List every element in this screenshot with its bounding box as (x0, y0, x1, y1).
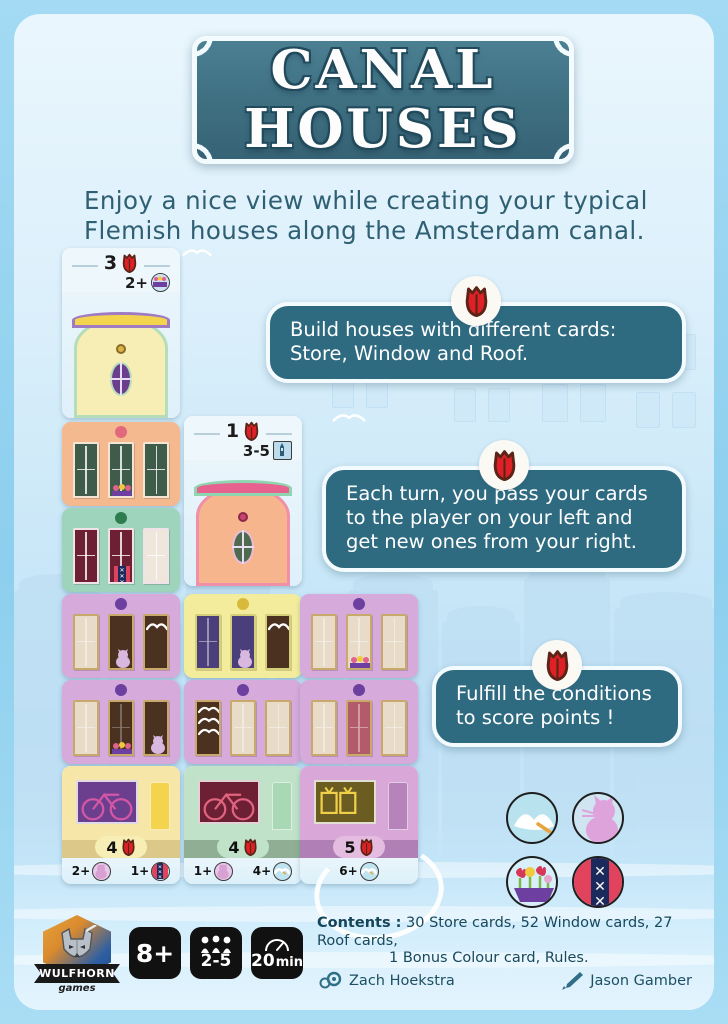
flowerbox-icon (349, 654, 371, 670)
window-card-medallion (115, 598, 127, 610)
playtime-value: 20 (251, 953, 275, 971)
store-points-value: 4 (228, 838, 239, 857)
window-card[interactable] (62, 594, 180, 678)
window: ✕✕✕ (108, 528, 134, 584)
tulip-icon (243, 421, 260, 441)
speech-bubble-score: Fulfill the conditions to score points ! (432, 666, 682, 747)
publisher-logo: WULFHORN games (34, 913, 120, 993)
cat-icon (235, 648, 255, 668)
bonus-icon-cluster: ✕✕✕ (506, 792, 666, 920)
amsterdam-flag-icon: ✕✕✕ (151, 862, 170, 881)
window (143, 528, 169, 584)
window (346, 700, 372, 756)
window (73, 700, 99, 756)
window (195, 700, 221, 756)
gears-icon (317, 971, 343, 991)
seagull-icon (273, 862, 292, 881)
contents-line-1: Contents : 30 Store cards, 52 Window car… (317, 915, 692, 950)
flowerbox-icon (151, 273, 170, 292)
tulip-icon (121, 253, 138, 273)
window (108, 442, 134, 498)
store-card-facade (184, 766, 302, 840)
wolf-icon (56, 925, 98, 969)
window (195, 614, 221, 670)
contents-label: Contents : (317, 915, 401, 931)
seagull-icon (146, 620, 168, 632)
roof-card-header: 1 3-5 (184, 416, 302, 460)
player-count-value: 2-5 (201, 953, 232, 971)
window (230, 614, 256, 670)
window-card[interactable] (184, 680, 302, 764)
roof-card[interactable]: 3 2+ (62, 248, 180, 418)
flowerbox-icon (506, 856, 558, 908)
shop-window (314, 780, 376, 824)
publisher-sub: games (34, 983, 120, 994)
roof-card-art (184, 460, 302, 586)
condition-count: 2+ (72, 864, 90, 878)
window-card-medallion (115, 684, 127, 696)
seagull-icon (182, 246, 212, 258)
window (108, 614, 134, 670)
seagull-icon (506, 792, 558, 844)
window-card[interactable] (62, 680, 180, 764)
window (381, 614, 407, 670)
seagull-icon (268, 620, 290, 632)
window-card[interactable] (300, 594, 418, 678)
designer-credit: Zach Hoekstra (317, 971, 455, 991)
store-card-conditions: 1+ 4+ (184, 858, 302, 884)
svg-text:✕: ✕ (594, 894, 606, 908)
window (265, 700, 291, 756)
window (143, 442, 169, 498)
publisher-name: WULFHORN (34, 964, 120, 983)
window (108, 700, 134, 756)
bubble-text: Each turn, you pass your cards to the pl… (346, 482, 648, 553)
window (265, 614, 291, 670)
condition-count: 1+ (131, 864, 149, 878)
window (73, 442, 99, 498)
roof-card-points: 1 (184, 420, 302, 442)
svg-text:✕: ✕ (158, 874, 162, 879)
condition-count: 1+ (194, 864, 212, 878)
tulip-icon (121, 838, 136, 856)
store-card-facade (300, 766, 418, 840)
window-card-medallion (237, 598, 249, 610)
cat-icon (148, 734, 168, 754)
store-card-conditions: 2+ 1+ ✕✕✕ (62, 858, 180, 884)
window (381, 700, 407, 756)
roof-points-value: 1 (226, 420, 239, 442)
roof-points-value: 3 (104, 252, 117, 274)
window-card-medallion (237, 684, 249, 696)
age-value: 8+ (136, 941, 174, 966)
window-card[interactable]: ✕✕✕ (62, 508, 180, 592)
tagline: Enjoy a nice view while creating your ty… (84, 186, 684, 246)
window-card-medallion (353, 684, 365, 696)
store-condition: 4+ (253, 862, 292, 881)
speech-bubble-build: Build houses with different cards: Store… (266, 302, 686, 383)
playtime-badge: 20 min (251, 927, 303, 979)
artist-name: Jason Gamber (590, 973, 692, 989)
shop-window (76, 780, 138, 824)
amsterdam-flag-icon: ✕✕✕ (114, 566, 130, 584)
shop-door (272, 782, 292, 830)
window (143, 614, 169, 670)
game-title-plate: CANAL HOUSES (192, 36, 574, 164)
designer-name: Zach Hoekstra (349, 973, 455, 989)
roof-card-points: 3 (62, 252, 180, 274)
seagull-icon (332, 410, 366, 424)
roof-card-art (62, 292, 180, 418)
window (73, 528, 99, 584)
cat-icon (572, 792, 624, 844)
window-card[interactable] (300, 680, 418, 764)
window-card-medallion (115, 512, 127, 524)
store-card-points: 4 (217, 836, 269, 858)
svg-text:✕: ✕ (119, 579, 124, 584)
tulip-icon (532, 640, 582, 690)
shop-window (198, 780, 260, 824)
cat-icon (214, 862, 233, 881)
condition-count: 4+ (253, 864, 271, 878)
footer: WULFHORN games 8+ 2-5 (28, 910, 700, 996)
roof-card-header: 3 2+ (62, 248, 180, 292)
roof-card[interactable]: 1 3-5 (184, 416, 302, 586)
window-card-medallion (353, 598, 365, 610)
store-condition: 1+ ✕✕✕ (131, 862, 170, 881)
store-card[interactable]: 4 2+ 1+ ✕✕✕ (62, 766, 180, 884)
artist-credit: Jason Gamber (560, 971, 692, 991)
bubble-text: Build houses with different cards: Store… (290, 318, 616, 365)
tower-icon (273, 441, 292, 460)
flowerbox-icon (111, 482, 133, 498)
playtime-unit: min (276, 956, 303, 969)
shop-door (388, 782, 408, 830)
bicycle-icon (78, 782, 136, 822)
window (311, 700, 337, 756)
store-card-points: 4 (95, 836, 147, 858)
contents-line-2: 1 Bonus Colour card, Rules. (317, 950, 692, 967)
window-card-medallion (115, 426, 127, 438)
credits: Contents : 30 Store cards, 52 Window car… (317, 915, 692, 990)
cat-icon (113, 648, 133, 668)
store-condition: 1+ (194, 862, 233, 881)
tulip-icon (479, 440, 529, 490)
cover-panel: CANAL HOUSES Enjoy a nice view while cre… (14, 14, 714, 1010)
store-card[interactable]: 4 1+ 4+ (184, 766, 302, 884)
speech-bubble-pass: Each turn, you pass your cards to the pl… (322, 466, 686, 572)
window (143, 700, 169, 756)
byline: Zach Hoekstra Jason Gamber (317, 971, 692, 991)
tulip-icon (243, 838, 258, 856)
age-badge: 8+ (129, 927, 181, 979)
player-count-badge: 2-5 (190, 927, 242, 979)
box-background: CANAL HOUSES Enjoy a nice view while cre… (0, 0, 728, 1024)
flowerbox-icon (111, 740, 133, 756)
bicycle-icon (200, 782, 258, 822)
title-line-2: HOUSES (244, 103, 521, 156)
tulip-icon (451, 276, 501, 326)
window-card[interactable] (184, 594, 302, 678)
shop-door (150, 782, 170, 830)
store-points-value: 4 (106, 838, 117, 857)
gift-icon (316, 782, 374, 822)
roof-card-condition: 2+ (125, 273, 170, 292)
svg-text:✕: ✕ (594, 864, 606, 880)
window (311, 614, 337, 670)
amsterdam-flag-icon: ✕✕✕ (572, 856, 624, 908)
brush-icon (560, 971, 584, 991)
store-card-facade (62, 766, 180, 840)
roof-condition-count: 2+ (125, 274, 148, 292)
seagull-icon (198, 704, 220, 738)
title-line-1: CANAL (270, 44, 495, 97)
window (230, 700, 256, 756)
window (346, 614, 372, 670)
cat-icon (92, 862, 111, 881)
window (73, 614, 99, 670)
svg-text:✕: ✕ (594, 879, 606, 895)
roof-card-condition: 3-5 (243, 441, 292, 460)
roof-condition-count: 3-5 (243, 442, 270, 460)
window-card[interactable] (62, 422, 180, 506)
store-condition: 2+ (72, 862, 111, 881)
